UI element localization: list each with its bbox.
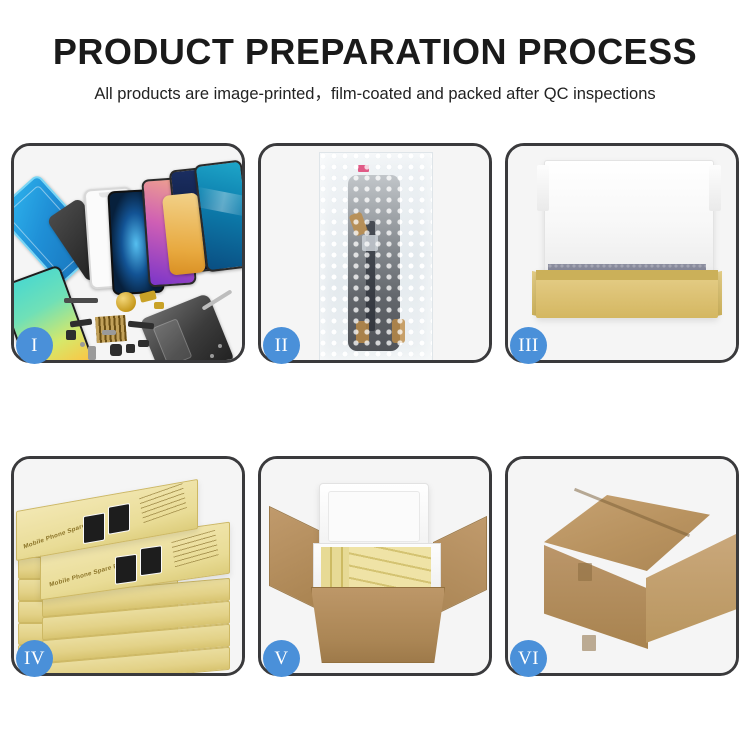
- part-screw-a: [80, 342, 85, 347]
- page-header: PRODUCT PREPARATION PROCESS All products…: [0, 0, 750, 104]
- box-screen-thumb-2a: [115, 554, 137, 585]
- gold-box-tray-edge: [536, 270, 718, 280]
- box-screen-thumb-1a: [83, 512, 105, 544]
- step-badge-6: VI: [510, 640, 547, 677]
- part-camera-module: [110, 344, 122, 356]
- bubble-wrap-scene: [261, 146, 489, 360]
- step-image-6: [508, 459, 736, 673]
- box-screen-thumb-2b: [140, 545, 162, 576]
- gold-boxes-row-b: [349, 547, 431, 589]
- step-badge-1: I: [16, 327, 53, 364]
- foam-tray-box-scene: [508, 146, 736, 360]
- pink-label-sticker: [358, 165, 369, 172]
- wrapped-gold-tab-c: [392, 319, 405, 343]
- bubble-wrap-bag-icon: [319, 152, 433, 360]
- box-screen-thumb-1b: [108, 503, 130, 535]
- process-step-panel-6[interactable]: VI: [505, 456, 739, 676]
- step-image-2: [261, 146, 489, 360]
- step-image-3: [508, 146, 736, 360]
- part-screw-c: [218, 344, 222, 348]
- product-preparation-page: PRODUCT PREPARATION PROCESS All products…: [0, 0, 750, 750]
- carton-foam-scene: [261, 459, 489, 673]
- foam-lid-icon: [319, 483, 429, 551]
- white-foam-lid-icon: [544, 160, 714, 280]
- part-bracket-a: [102, 330, 116, 335]
- carton-body-icon: [311, 587, 445, 663]
- process-step-panel-4[interactable]: Mobile Phone Spare Parts Mobile Phone Sp…: [11, 456, 245, 676]
- page-subtitle: All products are image-printed，film-coat…: [0, 80, 750, 104]
- step-badge-4: IV: [16, 640, 53, 677]
- step-image-4: Mobile Phone Spare Parts Mobile Phone Sp…: [14, 459, 242, 673]
- process-step-grid: I II: [11, 143, 739, 676]
- carton-tape-front: [578, 563, 592, 581]
- part-gold-b: [154, 302, 164, 309]
- carton-tape-bottom: [582, 635, 596, 651]
- part-ribbon-a: [64, 298, 98, 303]
- box-spec-lines-1: [139, 483, 187, 523]
- wrapped-gold-tab-b: [356, 321, 369, 343]
- wrapped-connector: [362, 235, 378, 251]
- speaker-coin-part-icon: [116, 292, 136, 312]
- page-title: PRODUCT PREPARATION PROCESS: [0, 33, 750, 71]
- step-badge-3: III: [510, 327, 547, 364]
- part-bracket-b: [138, 340, 149, 347]
- chip-grid-part-icon: [95, 315, 127, 343]
- part-screw-b: [210, 354, 214, 358]
- step-badge-5: V: [263, 640, 300, 677]
- part-vibrator: [126, 344, 135, 353]
- step-image-5: [261, 459, 489, 673]
- sealed-carton-scene: [508, 459, 736, 673]
- process-step-panel-2[interactable]: II: [258, 143, 492, 363]
- step-badge-2: II: [263, 327, 300, 364]
- phone-parts-scene: [14, 146, 242, 360]
- box-spec-lines-2: [171, 530, 218, 567]
- process-step-panel-3[interactable]: III: [505, 143, 739, 363]
- part-connector-a: [66, 330, 76, 340]
- stacked-boxes-scene: Mobile Phone Spare Parts Mobile Phone Sp…: [14, 459, 242, 673]
- part-sim-tray: [88, 346, 96, 360]
- process-step-panel-5[interactable]: V: [258, 456, 492, 676]
- process-step-panel-1[interactable]: I: [11, 143, 245, 363]
- step-image-1: [14, 146, 242, 360]
